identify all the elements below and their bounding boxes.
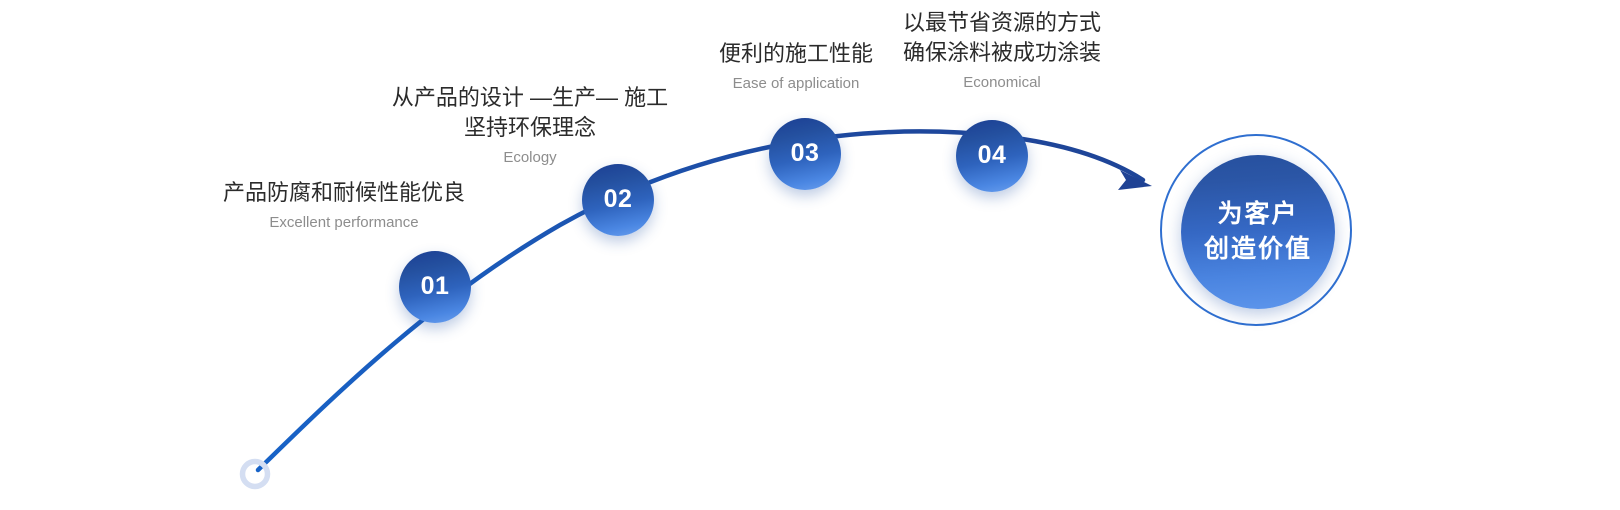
step-label-02-en: Ecology <box>378 147 682 169</box>
step-label-03-en: Ease of application <box>700 73 892 95</box>
step-node-03[interactable]: 03 <box>769 118 841 190</box>
step-node-01[interactable]: 01 <box>399 251 471 323</box>
step-label-02-cn-line1: 从产品的设计 —生产— 施工 <box>378 83 682 113</box>
start-point-icon <box>243 462 268 487</box>
step-label-03: 便利的施工性能 Ease of application <box>700 39 892 95</box>
goal-inner-circle: 为客户 创造价值 <box>1181 155 1335 309</box>
step-number-03: 03 <box>791 141 820 166</box>
step-label-02-cn-line2: 坚持环保理念 <box>378 113 682 143</box>
step-label-01-en: Excellent performance <box>160 212 528 234</box>
step-label-04-cn-line1: 以最节省资源的方式 <box>872 8 1132 38</box>
step-label-01: 产品防腐和耐候性能优良 Excellent performance <box>160 178 528 234</box>
infographic-canvas: 01 02 03 04 产品防腐和耐候性能优良 Excellent perfor… <box>0 0 1620 510</box>
goal-text-line2: 创造价值 <box>1204 232 1312 267</box>
step-label-01-cn-line1: 产品防腐和耐候性能优良 <box>160 178 528 208</box>
step-label-03-cn-line1: 便利的施工性能 <box>700 39 892 69</box>
step-node-04[interactable]: 04 <box>956 120 1028 192</box>
goal-circle[interactable]: 为客户 创造价值 <box>1160 134 1356 330</box>
step-label-02: 从产品的设计 —生产— 施工 坚持环保理念 Ecology <box>378 83 682 169</box>
step-label-04-en: Economical <box>872 72 1132 94</box>
goal-text-line1: 为客户 <box>1204 197 1312 232</box>
step-label-04-cn-line2: 确保涂料被成功涂装 <box>872 38 1132 68</box>
goal-text: 为客户 创造价值 <box>1204 197 1312 267</box>
step-number-02: 02 <box>604 187 633 212</box>
step-number-04: 04 <box>978 143 1007 168</box>
step-node-02[interactable]: 02 <box>582 164 654 236</box>
step-number-01: 01 <box>421 274 450 299</box>
step-label-04: 以最节省资源的方式 确保涂料被成功涂装 Economical <box>872 8 1132 94</box>
